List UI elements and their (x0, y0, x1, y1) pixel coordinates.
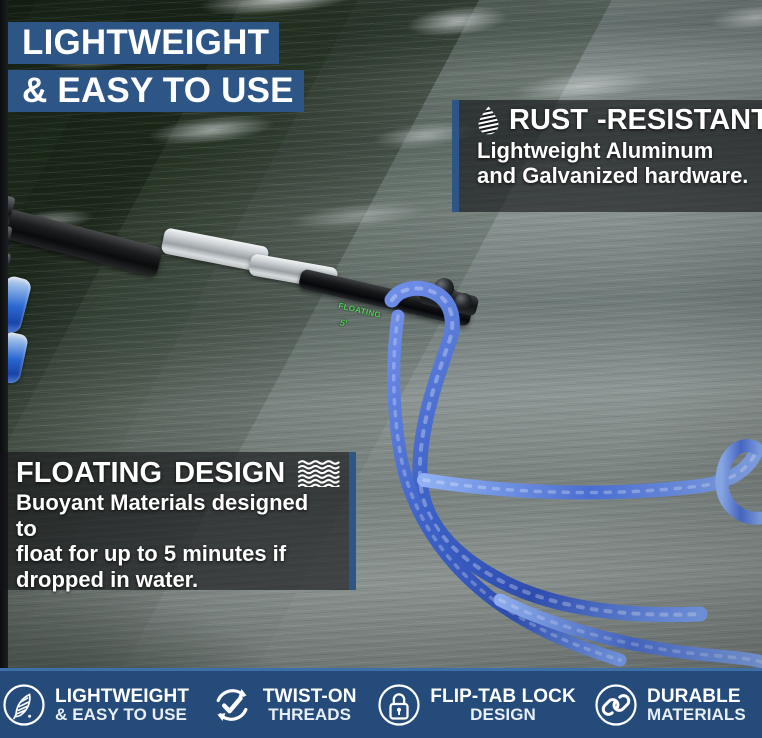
twist-arrows-check-icon (210, 683, 254, 727)
product-feature-image: FLOATING 5' (0, 0, 762, 738)
callout-floating-title-rest: DESIGN (174, 458, 285, 488)
feature-item-durable-materials: DURABLE MATERIALS (578, 683, 762, 727)
feature-label-twist-on: TWIST-ON THREADS (263, 687, 357, 723)
waves-icon (297, 459, 341, 487)
water-droplet-icon (477, 106, 500, 135)
feature-label-lightweight: LIGHTWEIGHT & EASY TO USE (55, 687, 189, 723)
feature-twist-on-line-1: TWIST-ON (263, 687, 357, 706)
callout-rust-body: Lightweight Aluminum and Galvanized hard… (477, 138, 752, 189)
callout-rust-body-line-2: and Galvanized hardware. (477, 163, 752, 189)
feature-item-flip-tab-lock: FLIP-TAB LOCK DESIGN (375, 683, 578, 727)
feature-twist-on-line-2: THREADS (263, 706, 357, 723)
headline-line-1: LIGHTWEIGHT (8, 22, 279, 64)
callout-floating-design: FLOATING DESIGN Buoyant Materials design… (0, 452, 356, 590)
callout-floating-body-line-2: float for up to 5 minutes if (16, 541, 335, 567)
feature-durable-line-2: MATERIALS (647, 706, 746, 723)
callout-floating-body-line-1: Buoyant Materials designed to (16, 490, 335, 541)
padlock-icon (377, 683, 421, 727)
feature-label-durable-materials: DURABLE MATERIALS (647, 687, 746, 723)
feature-durable-line-1: DURABLE (647, 687, 746, 706)
feature-lightweight-line-1: LIGHTWEIGHT (55, 687, 189, 706)
feature-label-flip-tab-lock: FLIP-TAB LOCK DESIGN (430, 687, 576, 723)
feature-item-twist-on: TWIST-ON THREADS (191, 683, 375, 727)
callout-floating-title: FLOATING DESIGN (16, 458, 335, 488)
callout-floating-body-line-3: dropped in water. (16, 567, 335, 593)
callout-floating-body: Buoyant Materials designed to float for … (16, 490, 335, 592)
callout-rust-resistant: RUST-RESISTANT Lightweight Aluminum and … (452, 100, 762, 212)
feature-flip-tab-lock-line-2: DESIGN (430, 706, 576, 723)
headline-line-2: & EASY TO USE (8, 70, 304, 112)
callout-rust-body-line-1: Lightweight Aluminum (477, 138, 752, 164)
callout-floating-title-bold: FLOATING (16, 458, 162, 488)
feature-item-lightweight: LIGHTWEIGHT & EASY TO USE (0, 683, 191, 727)
feature-flip-tab-lock-line-1: FLIP-TAB LOCK (430, 687, 576, 706)
feature-bar: LIGHTWEIGHT & EASY TO USE TWIST-ON THREA… (0, 668, 762, 738)
feather-icon (2, 683, 46, 727)
callout-rust-title-rest: -RESISTANT (597, 106, 762, 136)
callout-rust-title-bold: RUST (509, 106, 588, 136)
feature-lightweight-line-2: & EASY TO USE (55, 706, 189, 723)
callout-rust-title: RUST-RESISTANT (477, 106, 752, 136)
chain-link-icon (594, 683, 638, 727)
